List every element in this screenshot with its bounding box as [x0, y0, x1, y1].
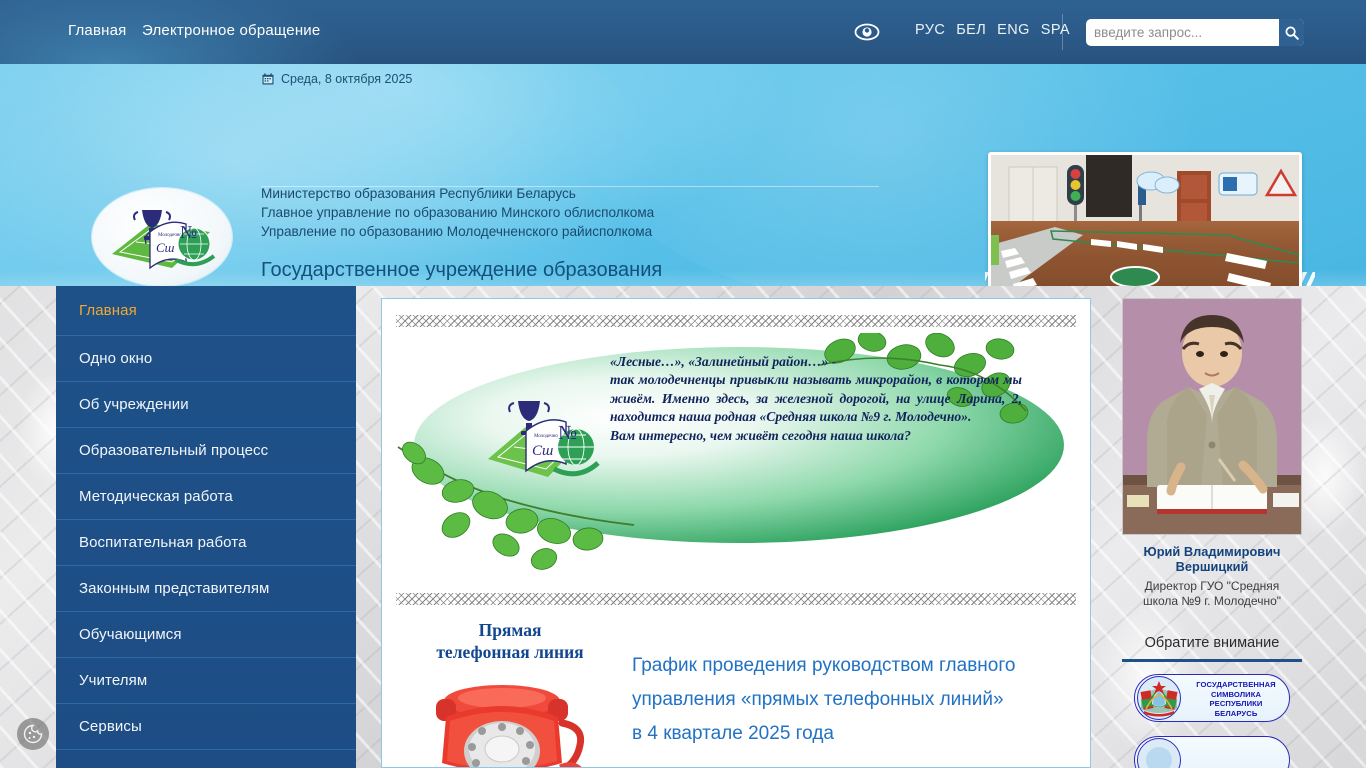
institution-type: Государственное учреждение образования [261, 257, 881, 283]
red-rotary-phone-icon [410, 671, 610, 768]
sidebar-item-educational-process[interactable]: Образовательный процесс [56, 428, 356, 474]
hotline-banner[interactable]: Прямая телефонная линия [404, 619, 616, 768]
sidebar-item-one-window[interactable]: Одно окно [56, 336, 356, 382]
hotline-title: Прямая телефонная линия [404, 619, 616, 663]
header-text-block: Министерство образования Республики Бела… [261, 184, 881, 286]
director-name-line1: Юрий Владимирович [1144, 544, 1281, 559]
sidebar-item-label: Образовательный процесс [79, 442, 268, 459]
sidebar-item-label: Обучающимся [79, 626, 182, 643]
sidebar-item-label: Сервисы [79, 718, 142, 735]
sidebar-item-teachers[interactable]: Учителям [56, 658, 356, 704]
sidebar-item-label: Законным представителям [79, 580, 269, 597]
director-photo [1122, 298, 1302, 535]
sidebar-item-upbringing-work[interactable]: Воспитательная работа [56, 520, 356, 566]
sidebar-item-legal-representatives[interactable]: Законным представителям [56, 566, 356, 612]
hotline-title-line2: телефонная линия [436, 642, 583, 662]
sidebar-item-services[interactable]: Сервисы [56, 704, 356, 750]
director-role-line2: школа №9 г. Молодечно" [1143, 594, 1281, 608]
schedule-line-1: График проведения руководством главного [632, 649, 1088, 683]
page-title: Средняя школа №9 г. Молодечно [261, 285, 881, 286]
sidebar-item-label: Методическая работа [79, 488, 233, 505]
svg-text:Сш: Сш [156, 240, 175, 255]
sidebar-item-methodical-work[interactable]: Методическая работа [56, 474, 356, 520]
sidebar-item-label: Главная [79, 302, 137, 319]
schedule-line-3: в 4 квартале 2025 года [632, 717, 1088, 751]
attention-section-rule [1122, 659, 1302, 662]
ministry-line-1: Министерство образования Республики Бела… [261, 184, 881, 203]
hotline-title-line1: Прямая [479, 620, 542, 640]
director-role: Директор ГУО "Средняя школа №9 г. Молоде… [1122, 579, 1302, 609]
eye-icon[interactable] [853, 19, 881, 45]
search-icon[interactable] [1279, 19, 1304, 46]
cookie-icon[interactable] [17, 718, 49, 750]
hotline-section: Прямая телефонная линия [396, 613, 1076, 768]
director-role-line1: Директор ГУО "Средняя [1145, 579, 1280, 593]
badge-state-symbols-text: ГОСУДАРСТВЕННАЯ СИМВОЛИКА РЕСПУБЛИКИ БЕЛ… [1183, 680, 1289, 718]
grape-leaf-decoration-bottom-left [396, 429, 642, 577]
sidebar-item-home[interactable]: Главная [56, 286, 356, 336]
banner-paragraph: так молодечненцы привыкли называть микро… [610, 371, 1022, 426]
school-emblem-logo[interactable]: Сш Молодечно № [92, 188, 232, 286]
calendar-icon [262, 73, 274, 85]
zigzag-divider-bottom [396, 593, 1076, 605]
badge-line-1: ГОСУДАРСТВЕННАЯ [1183, 680, 1289, 690]
zigzag-divider-top [396, 315, 1076, 327]
svg-text:№: № [180, 222, 197, 242]
sidebar-item-label: Одно окно [79, 350, 152, 367]
badge-line-4: БЕЛАРУСЬ [1183, 709, 1289, 719]
language-switcher[interactable]: РУС БЕЛ ENG SPA [915, 22, 1070, 38]
header-photo [988, 152, 1302, 286]
belarus-emblem-icon [1137, 738, 1181, 768]
sidebar-item-label: Учителям [79, 672, 147, 689]
badge-secondary[interactable] [1134, 736, 1290, 768]
svg-text:Молодечно: Молодечно [158, 233, 182, 238]
nav-divider [1062, 14, 1063, 50]
badge-state-symbols[interactable]: ГОСУДАРСТВЕННАЯ СИМВОЛИКА РЕСПУБЛИКИ БЕЛ… [1134, 674, 1290, 722]
nav-link-electronic-appeal[interactable]: Электронное обращение [142, 22, 320, 39]
lang-spa[interactable]: SPA [1041, 22, 1070, 38]
sidebar-item-label: Воспитательная работа [79, 534, 247, 551]
ministry-line-2: Главное управление по образованию Минско… [261, 203, 881, 222]
ministry-line-3: Управление по образованию Молодечненског… [261, 222, 881, 241]
current-date: Среда, 8 октября 2025 [262, 72, 412, 86]
sidebar-item-label: Об учреждении [79, 396, 189, 413]
attention-section-title: Обратите внимание [1122, 634, 1302, 652]
lang-rus[interactable]: РУС [915, 22, 945, 38]
top-navigation-bar: Главная Электронное обращение РУС БЕЛ EN… [0, 0, 1366, 64]
search-box[interactable] [1086, 19, 1304, 46]
nav-link-home[interactable]: Главная [68, 22, 127, 39]
main-content-panel: Сш Молодечно № [381, 298, 1091, 768]
sidebar-item-students[interactable]: Обучающимся [56, 612, 356, 658]
sidebar-item-about-institution[interactable]: Об учреждении [56, 382, 356, 428]
lang-eng[interactable]: ENG [997, 22, 1030, 38]
right-sidebar: Юрий Владимирович Вершицкий Директор ГУО… [1122, 298, 1302, 768]
date-text: Среда, 8 октября 2025 [281, 72, 412, 86]
main-sidebar-navigation: Главная Одно окно Об учреждении Образова… [56, 286, 356, 768]
director-name: Юрий Владимирович Вершицкий [1122, 544, 1302, 574]
lang-bel[interactable]: БЕЛ [956, 22, 986, 38]
search-input[interactable] [1086, 20, 1279, 45]
banner-quote-line: «Лесные…», «Залинейный район…» - [610, 353, 1022, 371]
badge-line-3: РЕСПУБЛИКИ [1183, 699, 1289, 709]
belarus-coat-of-arms-icon [1137, 676, 1181, 720]
hotline-schedule-link[interactable]: График проведения руководством главного … [632, 649, 1088, 751]
banner-question: Вам интересно, чем живёт сегодня наша шк… [610, 427, 1022, 445]
banner-text: «Лесные…», «Залинейный район…» - так мол… [610, 353, 1022, 445]
badge-line-2: СИМВОЛИКА [1183, 690, 1289, 700]
welcome-banner: Сш Молодечно № [396, 333, 1076, 577]
schedule-line-2: управления «прямых телефонных линий» [632, 683, 1088, 717]
site-header: Среда, 8 октября 2025 Сш Молодечно [0, 64, 1366, 286]
director-name-line2: Вершицкий [1176, 559, 1249, 574]
